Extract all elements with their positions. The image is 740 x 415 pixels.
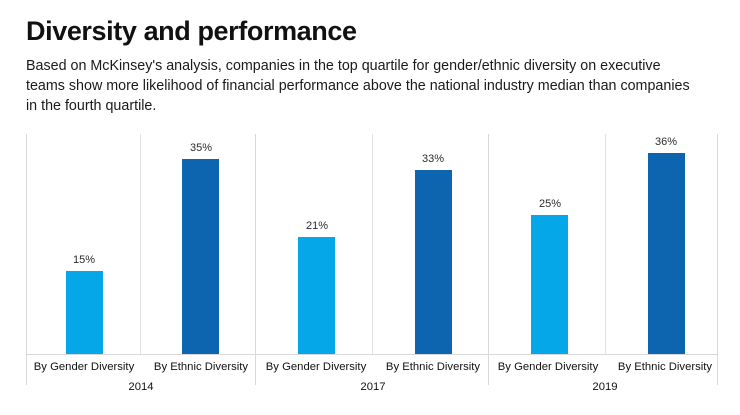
chart-header: Diversity and performance Based on McKin… [26,14,716,116]
cell-divider [140,134,141,355]
bar-value-label: 21% [287,220,347,233]
cell-divider [372,134,373,355]
cell-divider [605,134,606,355]
bar-2014-ethnic[interactable] [182,159,219,355]
chart-subtitle: Based on McKinsey's analysis, companies … [26,56,702,116]
group-divider [255,134,256,385]
bar-value-label: 33% [403,153,463,166]
group-label-2019: 2019 [490,380,720,394]
x-axis-labels: By Gender Diversity By Ethnic Diversity … [26,356,718,408]
bar-2017-ethnic[interactable] [415,170,452,355]
bar-value-label: 35% [171,142,231,155]
page-title: Diversity and performance [26,14,716,48]
x-label-2014-gender: By Gender Diversity [26,360,142,374]
bar-2017-gender[interactable] [298,237,335,355]
group-label-2014: 2014 [26,380,256,394]
x-label-2019-gender: By Gender Diversity [490,360,606,374]
group-divider [488,134,489,385]
bar-2019-ethnic[interactable] [648,153,685,355]
bar-value-label: 25% [520,198,580,211]
x-label-2019-ethnic: By Ethnic Diversity [607,360,723,374]
bar-value-label: 36% [636,136,696,149]
x-label-2014-ethnic: By Ethnic Diversity [143,360,259,374]
x-axis-line [26,354,718,355]
x-label-2017-ethnic: By Ethnic Diversity [375,360,491,374]
plot-area: 15% 35% 21% 33% 25% 36% [26,134,718,355]
bar-value-label: 15% [54,254,114,267]
bar-2019-gender[interactable] [531,215,568,355]
group-divider [26,134,27,385]
x-label-2017-gender: By Gender Diversity [258,360,374,374]
chart-page: Diversity and performance Based on McKin… [0,0,740,415]
bar-2014-gender[interactable] [66,271,103,355]
group-divider [717,134,718,385]
group-label-2017: 2017 [258,380,488,394]
